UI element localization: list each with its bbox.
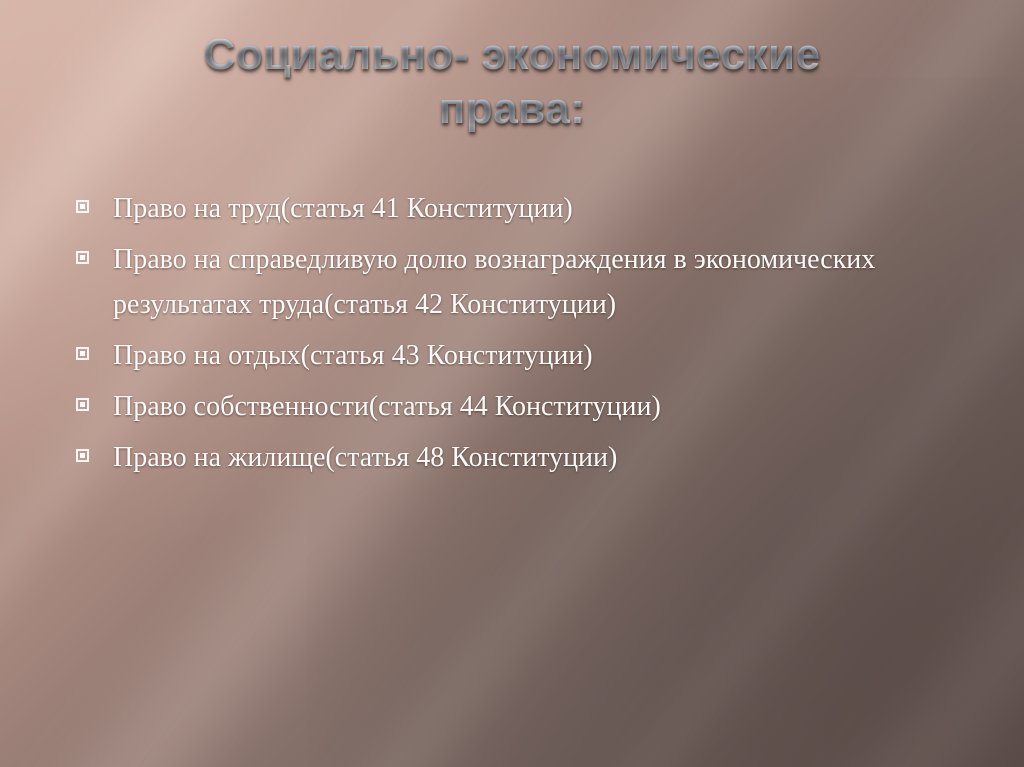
presentation-slide: Социально- экономические права: Право на… xyxy=(0,0,1024,767)
list-item: Право на отдых(статья 43 Конституции) xyxy=(76,333,976,378)
list-item-label: Право на отдых(статья 43 Конституции) xyxy=(113,333,976,378)
list-item-label: Право на труд(статья 41 Конституции) xyxy=(113,186,976,231)
square-in-square-bullet-icon xyxy=(76,251,89,264)
list-item: Право на труд(статья 41 Конституции) xyxy=(76,186,976,231)
slide-title-line-2: права: xyxy=(96,82,928,136)
square-in-square-bullet-icon xyxy=(76,449,89,462)
list-item: Право на справедливую долю вознаграждени… xyxy=(76,237,976,327)
list-item-label: Право собственности(статья 44 Конституци… xyxy=(113,384,976,429)
square-in-square-bullet-icon xyxy=(76,200,89,213)
bullet-list: Право на труд(статья 41 Конституции) Пра… xyxy=(76,186,976,486)
square-in-square-bullet-icon xyxy=(76,347,89,360)
slide-title-line-1: Социально- экономические xyxy=(96,28,928,82)
slide-title: Социально- экономические права: xyxy=(96,28,928,136)
list-item: Право на жилище(статья 48 Конституции) xyxy=(76,435,976,480)
list-item-label: Право на жилище(статья 48 Конституции) xyxy=(113,435,976,480)
square-in-square-bullet-icon xyxy=(76,398,89,411)
list-item-label: Право на справедливую долю вознаграждени… xyxy=(113,237,976,327)
list-item: Право собственности(статья 44 Конституци… xyxy=(76,384,976,429)
